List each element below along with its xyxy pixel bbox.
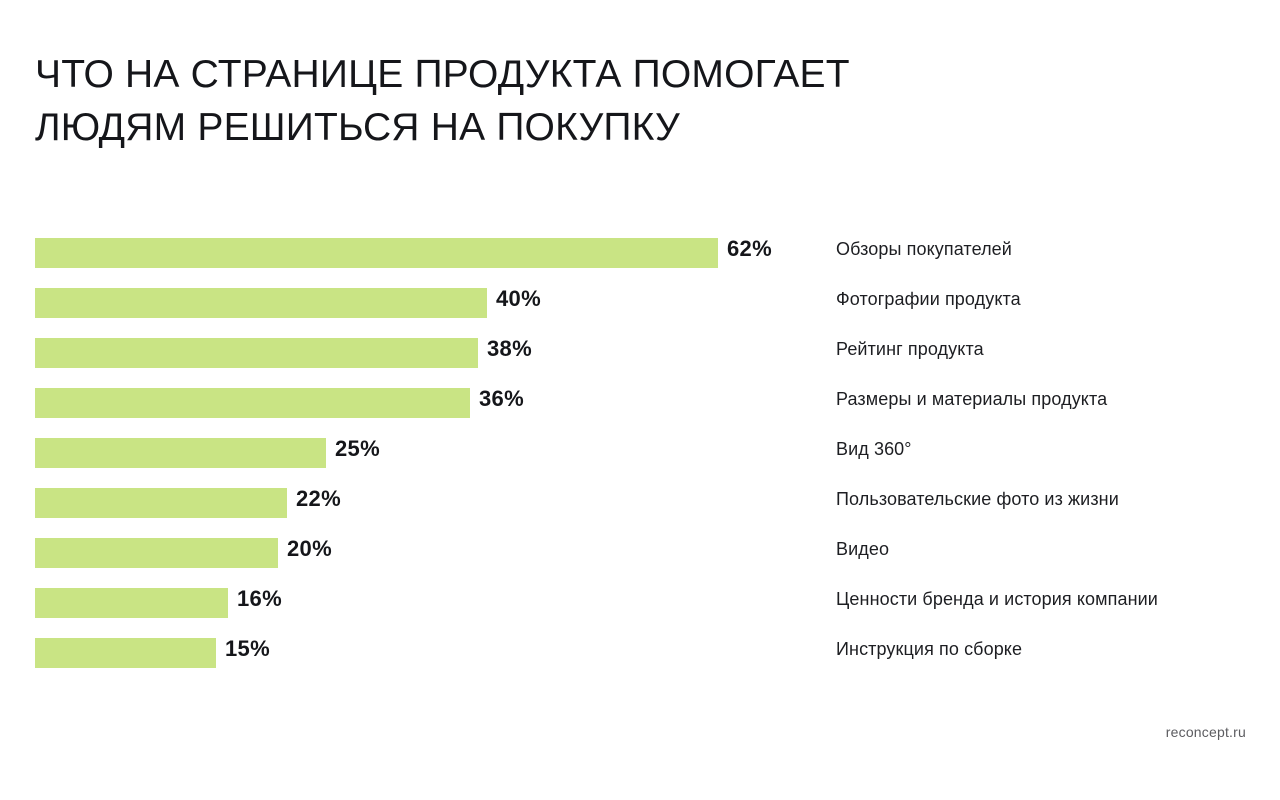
bar-value-label: 15% — [225, 636, 270, 662]
bar-category-label: Обзоры покупателей — [836, 239, 1012, 260]
bar-track — [35, 638, 835, 668]
bar-category-label: Инструкция по сборке — [836, 639, 1022, 660]
bar-value-label: 16% — [237, 586, 282, 612]
watermark: reconcept.ru — [1166, 724, 1246, 740]
bar-fill — [35, 238, 718, 268]
bar-track — [35, 588, 835, 618]
bar-category-label: Рейтинг продукта — [836, 339, 984, 360]
bar-track — [35, 338, 835, 368]
bar-track — [35, 288, 835, 318]
bar-track — [35, 538, 835, 568]
bar-value-label: 36% — [479, 386, 524, 412]
bar-category-label: Ценности бренда и история компании — [836, 589, 1158, 610]
bar-track — [35, 438, 835, 468]
bar-track — [35, 388, 835, 418]
bar-category-label: Размеры и материалы продукта — [836, 389, 1107, 410]
chart-page: ЧТО НА СТРАНИЦЕ ПРОДУКТА ПОМОГАЕТ ЛЮДЯМ … — [0, 0, 1280, 800]
bar-row: 38%Рейтинг продукта — [0, 328, 1280, 378]
bar-value-label: 38% — [487, 336, 532, 362]
bar-category-label: Вид 360° — [836, 439, 912, 460]
bar-track — [35, 238, 835, 268]
bar-category-label: Фотографии продукта — [836, 289, 1021, 310]
bar-fill — [35, 538, 278, 568]
bar-chart: 62%Обзоры покупателей40%Фотографии проду… — [0, 228, 1280, 688]
bar-row: 40%Фотографии продукта — [0, 278, 1280, 328]
bar-value-label: 40% — [496, 286, 541, 312]
bar-value-label: 25% — [335, 436, 380, 462]
bar-row: 16%Ценности бренда и история компании — [0, 578, 1280, 628]
bar-fill — [35, 588, 228, 618]
bar-fill — [35, 488, 287, 518]
bar-track — [35, 488, 835, 518]
bar-fill — [35, 638, 216, 668]
bar-fill — [35, 338, 478, 368]
bar-row: 62%Обзоры покупателей — [0, 228, 1280, 278]
bar-value-label: 22% — [296, 486, 341, 512]
bar-fill — [35, 288, 487, 318]
bar-row: 22%Пользовательские фото из жизни — [0, 478, 1280, 528]
bar-value-label: 62% — [727, 236, 772, 262]
bar-fill — [35, 388, 470, 418]
bar-category-label: Пользовательские фото из жизни — [836, 489, 1119, 510]
bar-row: 25%Вид 360° — [0, 428, 1280, 478]
bar-fill — [35, 438, 326, 468]
bar-category-label: Видео — [836, 539, 889, 560]
bar-value-label: 20% — [287, 536, 332, 562]
bar-row: 15% Инструкция по сборке — [0, 628, 1280, 678]
page-title: ЧТО НА СТРАНИЦЕ ПРОДУКТА ПОМОГАЕТ ЛЮДЯМ … — [35, 48, 1155, 154]
bar-row: 20%Видео — [0, 528, 1280, 578]
bar-row: 36%Размеры и материалы продукта — [0, 378, 1280, 428]
